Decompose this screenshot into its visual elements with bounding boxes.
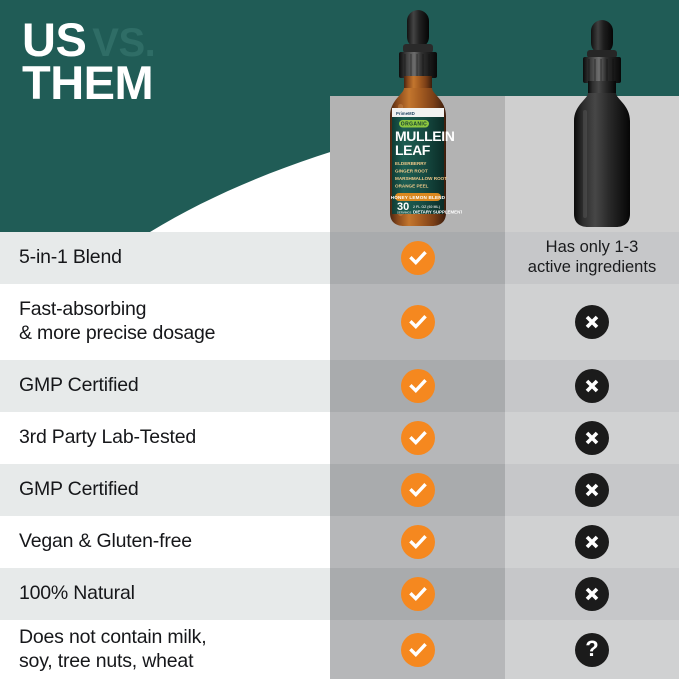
us-value-cell: [330, 360, 505, 412]
svg-text:HONEY LEMON BLEND: HONEY LEMON BLEND: [391, 195, 446, 200]
title-line-them: THEM: [22, 63, 155, 103]
check-circle-icon: [401, 473, 435, 507]
check-circle-icon: [401, 305, 435, 339]
feature-label-text: GMP Certified: [19, 374, 139, 398]
feature-label-line: soy, tree nuts, wheat: [19, 650, 206, 674]
them-value-cell: Has only 1-3active ingredients: [505, 232, 679, 284]
svg-text:ORGANIC: ORGANIC: [401, 122, 427, 128]
feature-label-text: Vegan & Gluten-free: [19, 530, 192, 554]
feature-label-text: 3rd Party Lab-Tested: [19, 426, 196, 450]
x-circle-icon: [575, 577, 609, 611]
svg-text:DIETARY SUPPLEMENT: DIETARY SUPPLEMENT: [413, 210, 462, 215]
them-value-cell: [505, 568, 679, 620]
table-row: GMP Certified: [0, 464, 679, 516]
x-circle-icon: [575, 369, 609, 403]
feature-label-line: & more precise dosage: [19, 322, 215, 346]
feature-label-line: 100% Natural: [19, 582, 135, 606]
check-circle-icon: [401, 369, 435, 403]
svg-text:2 FL OZ (60 ML): 2 FL OZ (60 ML): [413, 205, 441, 209]
them-value-cell: [505, 464, 679, 516]
feature-label-line: Does not contain milk,: [19, 626, 206, 650]
them-value-cell: [505, 516, 679, 568]
feature-label-line: GMP Certified: [19, 374, 139, 398]
feature-label-cell: GMP Certified: [0, 464, 330, 516]
table-row: Vegan & Gluten-free: [0, 516, 679, 568]
x-circle-icon: [575, 473, 609, 507]
feature-label-line: Vegan & Gluten-free: [19, 530, 192, 554]
them-note-text: Has only 1-3active ingredients: [528, 238, 656, 278]
feature-label-cell: Does not contain milk,soy, tree nuts, wh…: [0, 620, 330, 679]
us-value-cell: [330, 284, 505, 360]
them-value-cell: [505, 360, 679, 412]
title-line-us: USVS.: [22, 20, 155, 60]
page-title: USVS. THEM: [22, 20, 155, 104]
table-row: GMP Certified: [0, 360, 679, 412]
comparison-table: 5-in-1 BlendHas only 1-3active ingredien…: [0, 232, 679, 679]
feature-label-text: Does not contain milk,soy, tree nuts, wh…: [19, 626, 206, 674]
feature-label-cell: 100% Natural: [0, 568, 330, 620]
table-row: Does not contain milk,soy, tree nuts, wh…: [0, 620, 679, 679]
check-circle-icon: [401, 525, 435, 559]
feature-label-cell: Fast-absorbing& more precise dosage: [0, 284, 330, 360]
us-value-cell: [330, 232, 505, 284]
feature-label-line: 5-in-1 Blend: [19, 246, 122, 270]
feature-label-text: GMP Certified: [19, 478, 139, 502]
feature-label-text: 5-in-1 Blend: [19, 246, 122, 270]
question-mark-glyph: ?: [585, 638, 598, 660]
us-value-cell: [330, 464, 505, 516]
x-circle-icon: [575, 525, 609, 559]
x-circle-icon: [575, 421, 609, 455]
table-row: 5-in-1 BlendHas only 1-3active ingredien…: [0, 232, 679, 284]
svg-text:GINGER ROOT: GINGER ROOT: [395, 169, 428, 174]
check-circle-icon: [401, 421, 435, 455]
svg-text:ELDERBERRY: ELDERBERRY: [395, 161, 426, 166]
feature-label-cell: Vegan & Gluten-free: [0, 516, 330, 568]
product-bottle-us: PrimeMD ORGANIC MULLEIN LEAF ELDERBERRY …: [374, 8, 462, 230]
check-circle-icon: [401, 577, 435, 611]
feature-label-line: Fast-absorbing: [19, 298, 215, 322]
feature-label-cell: 5-in-1 Blend: [0, 232, 330, 284]
them-note-line: active ingredients: [528, 258, 656, 278]
svg-text:ORANGE PEEL: ORANGE PEEL: [395, 184, 429, 189]
them-value-cell: [505, 412, 679, 464]
feature-label-text: 100% Natural: [19, 582, 135, 606]
svg-text:LEAF: LEAF: [395, 142, 431, 158]
us-value-cell: [330, 516, 505, 568]
question-circle-icon: ?: [575, 633, 609, 667]
check-circle-icon: [401, 241, 435, 275]
us-value-cell: [330, 568, 505, 620]
table-row: Fast-absorbing& more precise dosage: [0, 284, 679, 360]
svg-text:MARSHMALLOW ROOT: MARSHMALLOW ROOT: [395, 176, 447, 181]
them-value-cell: ?: [505, 620, 679, 679]
them-value-cell: [505, 284, 679, 360]
feature-label-cell: GMP Certified: [0, 360, 330, 412]
us-value-cell: [330, 620, 505, 679]
them-note-line: Has only 1-3: [528, 238, 656, 258]
x-circle-icon: [575, 305, 609, 339]
feature-label-line: GMP Certified: [19, 478, 139, 502]
table-row: 3rd Party Lab-Tested: [0, 412, 679, 464]
feature-label-line: 3rd Party Lab-Tested: [19, 426, 196, 450]
svg-text:SERVINGS: SERVINGS: [397, 211, 412, 215]
feature-label-cell: 3rd Party Lab-Tested: [0, 412, 330, 464]
table-row: 100% Natural: [0, 568, 679, 620]
feature-label-text: Fast-absorbing& more precise dosage: [19, 298, 215, 346]
us-value-cell: [330, 412, 505, 464]
black-dropper-bottle-icon: [558, 18, 646, 230]
amber-dropper-bottle-icon: PrimeMD ORGANIC MULLEIN LEAF ELDERBERRY …: [374, 8, 462, 230]
comparison-infographic: USVS. THEM: [0, 0, 679, 679]
check-circle-icon: [401, 633, 435, 667]
svg-text:PrimeMD: PrimeMD: [396, 111, 415, 116]
product-bottle-them: [558, 18, 646, 230]
